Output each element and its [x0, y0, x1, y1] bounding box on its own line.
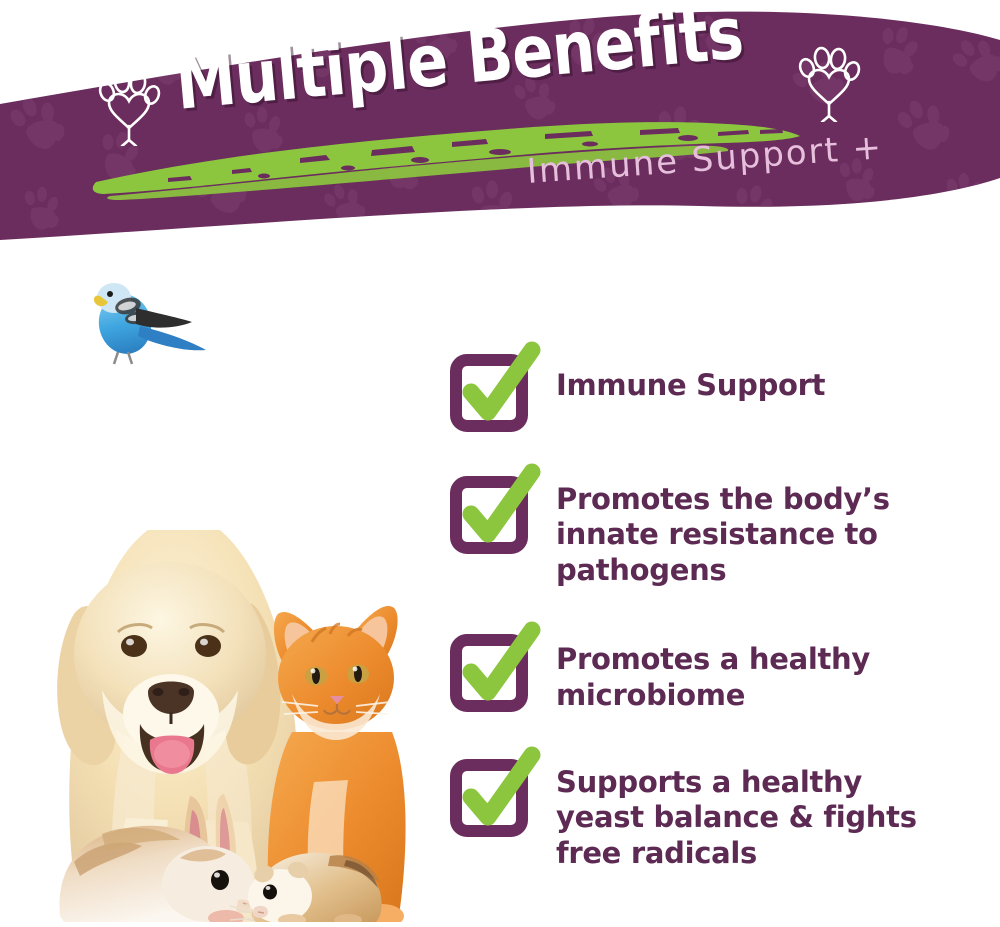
benefit-item-microbiome: Promotes a healthy microbiome	[452, 632, 972, 713]
heart-paw-icon-left	[96, 66, 164, 151]
benefit-label: Promotes the body’s innate resistance to…	[556, 474, 956, 588]
heart-paw-icon-right	[796, 42, 864, 127]
benefit-item-yeast-balance: Supports a healthy yeast balance & fight…	[452, 757, 972, 871]
benefit-label: Immune Support	[556, 352, 825, 403]
checkbox-checked-icon	[452, 761, 526, 835]
header-banner: Multiple Benefits Immune Support +	[0, 0, 1000, 250]
benefit-label: Supports a healthy yeast balance & fight…	[556, 757, 956, 871]
budgie-parakeet	[93, 283, 206, 364]
pets-photo	[30, 262, 440, 922]
benefit-item-immune-support: Immune Support	[452, 352, 972, 430]
checkbox-checked-icon	[452, 636, 526, 710]
benefit-label: Promotes a healthy microbiome	[556, 632, 956, 713]
benefits-list: Immune Support Promotes the body’s innat…	[452, 352, 972, 871]
benefit-item-innate-resistance: Promotes the body’s innate resistance to…	[452, 474, 972, 588]
checkbox-checked-icon	[452, 356, 526, 430]
checkbox-checked-icon	[452, 478, 526, 552]
